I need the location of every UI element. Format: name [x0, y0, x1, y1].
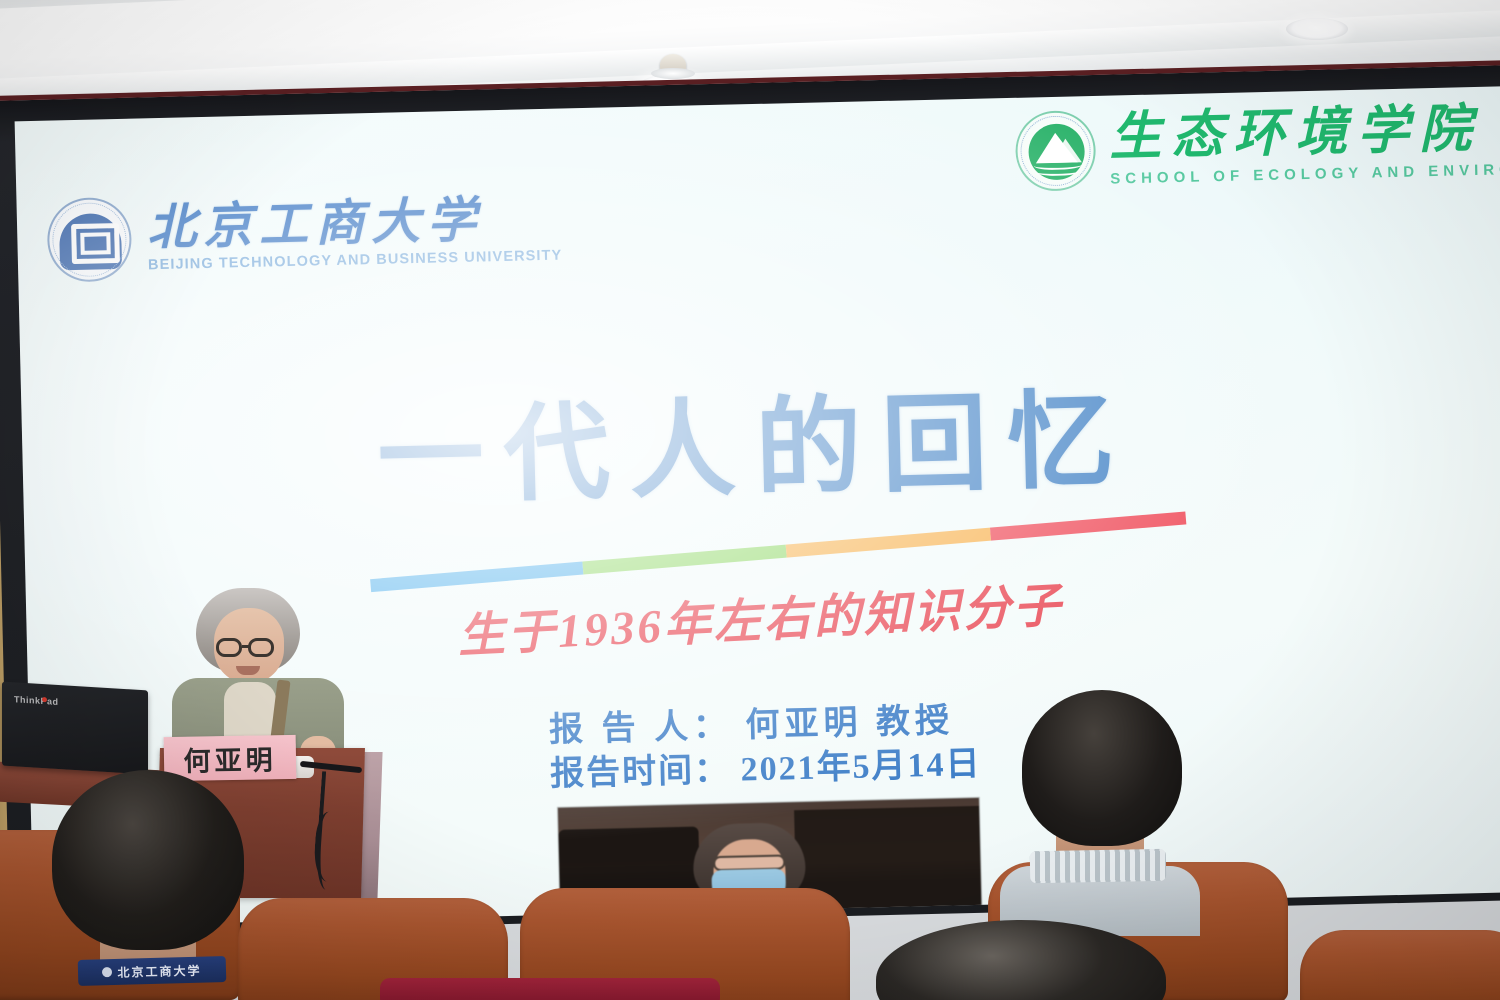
speaker-glasses-icon: [248, 638, 274, 657]
audience-member-right-head: [1022, 690, 1182, 846]
ceiling-downlight: [1286, 18, 1348, 40]
school-logo: 生态环境学院 SCHOOL OF ECOLOGY AND ENVIRONMENT: [1015, 98, 1500, 192]
chair-seat: [380, 978, 720, 1000]
audience-lanyard: 北京工商大学: [78, 956, 227, 986]
laptop-logo-dot-icon: [42, 697, 47, 702]
audience-right-collar: [1030, 849, 1167, 883]
btbu-emblem-icon: [46, 197, 132, 283]
university-logo: 北京工商大学 BEIJING TECHNOLOGY AND BUSINESS U…: [46, 187, 562, 283]
university-name-cn: 北京工商大学: [147, 194, 562, 253]
emblem-mountain-small: [1051, 138, 1082, 163]
school-logo-text: 生态环境学院 SCHOOL OF ECOLOGY AND ENVIRONMENT: [1109, 101, 1500, 187]
slide-meta: 报 告 人： 何亚明 教授 报告时间： 2021年5月14日: [549, 699, 982, 796]
slide-title-block: 一代人的回忆 生于1936年左右的知识分子: [376, 383, 1238, 515]
accent-bar-segment-blue: [370, 562, 583, 593]
ecology-emblem-icon: [1015, 110, 1097, 192]
chair-back: [1300, 930, 1500, 1000]
accent-bar-segment-green: [582, 545, 787, 575]
speaker-name-card: 何亚明: [164, 735, 297, 781]
sprinkler-head: [660, 54, 686, 76]
school-name-cn: 生态环境学院: [1109, 101, 1500, 164]
lecture-hall-photo: 北京工商大学 BEIJING TECHNOLOGY AND BUSINESS U…: [0, 0, 1500, 1000]
university-logo-text: 北京工商大学 BEIJING TECHNOLOGY AND BUSINESS U…: [147, 194, 563, 274]
speaker-glasses-bridge: [242, 645, 250, 648]
accent-bar-segment-red: [990, 511, 1187, 540]
laptop: ThinkPad: [2, 682, 148, 775]
laptop-brand-mark: ThinkPad: [14, 694, 59, 707]
slide-subtitle: 生于1936年左右的知识分子: [456, 566, 1065, 666]
speaker-glasses-icon: [216, 638, 242, 657]
lanyard-text: 北京工商大学: [117, 961, 201, 980]
accent-bar-segment-orange: [786, 528, 991, 558]
speaker-inner-shirt: [224, 682, 276, 740]
lanyard-badge-icon: [102, 967, 112, 977]
slide-title: 一代人的回忆: [376, 383, 1238, 515]
audience-member-left-head: [52, 770, 244, 950]
speaker-name-card-text: 何亚明: [183, 738, 277, 779]
